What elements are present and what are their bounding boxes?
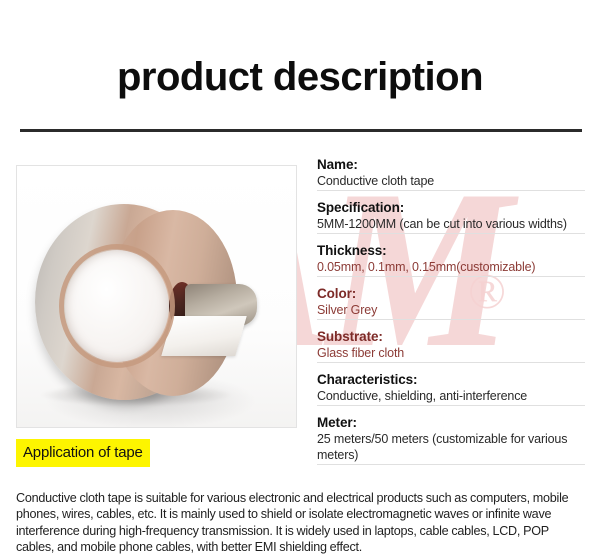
- application-description: Conductive cloth tape is suitable for va…: [16, 490, 589, 556]
- spec-label-characteristics: Characteristics:: [317, 372, 585, 388]
- spec-row: Characteristics: Conductive, shielding, …: [317, 372, 585, 406]
- title-block: product description: [0, 0, 600, 102]
- spec-value-meter: 25 meters/50 meters (customizable for va…: [317, 431, 585, 465]
- spec-value-thickness: 0.05mm, 0.1mm, 0.15mm(customizable): [317, 259, 585, 277]
- spec-row: Name: Conductive cloth tape: [317, 157, 585, 191]
- tape-roll-photo: [17, 166, 296, 427]
- page-title: product description: [0, 0, 600, 102]
- spec-label-color: Color:: [317, 286, 585, 302]
- spec-value-characteristics: Conductive, shielding, anti-interference: [317, 388, 585, 406]
- spec-value-color: Silver Grey: [317, 302, 585, 320]
- roll-core-hole: [65, 250, 169, 362]
- spec-value-name: Conductive cloth tape: [317, 173, 585, 191]
- spec-row: Specification: 5MM-1200MM (can be cut in…: [317, 200, 585, 234]
- spec-label-name: Name:: [317, 157, 585, 173]
- spec-row: Color: Silver Grey: [317, 286, 585, 320]
- specification-table: Name: Conductive cloth tape Specificatio…: [317, 157, 585, 474]
- spec-label-thickness: Thickness:: [317, 243, 585, 259]
- spec-label-substrate: Substrate:: [317, 329, 585, 345]
- spec-value-specification: 5MM-1200MM (can be cut into various widt…: [317, 216, 585, 234]
- tape-liner: [161, 316, 246, 356]
- spec-row: Thickness: 0.05mm, 0.1mm, 0.15mm(customi…: [317, 243, 585, 277]
- spec-row: Meter: 25 meters/50 meters (customizable…: [317, 415, 585, 465]
- spec-row: Substrate: Glass fiber cloth: [317, 329, 585, 363]
- spec-label-meter: Meter:: [317, 415, 585, 431]
- spec-value-substrate: Glass fiber cloth: [317, 345, 585, 363]
- title-divider: [20, 129, 582, 132]
- spec-label-specification: Specification:: [317, 200, 585, 216]
- product-image: [16, 165, 297, 428]
- application-heading: Application of tape: [16, 439, 150, 467]
